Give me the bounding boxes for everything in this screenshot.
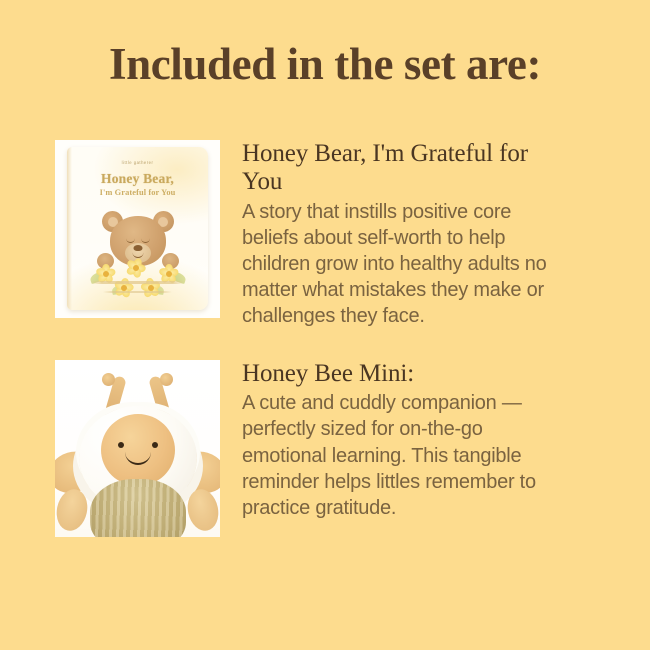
cover-tagline-rule — [91, 281, 184, 284]
book-cover-image: little gatherer Honey Bear, I'm Grateful… — [55, 140, 220, 318]
cover-byline-rule — [103, 291, 172, 293]
bee-antenna-tip-right-icon — [160, 373, 173, 386]
flower-icon — [98, 265, 115, 282]
book-card: little gatherer Honey Bear, I'm Grateful… — [67, 147, 208, 310]
bee-arm-right-icon — [184, 486, 220, 533]
cover-title-text: Honey Bear, — [67, 171, 208, 187]
flower-icon — [128, 259, 145, 276]
book-text-column: Honey Bear, I'm Grateful for You A story… — [242, 140, 562, 329]
cover-subtitle-text: I'm Grateful for You — [67, 188, 208, 197]
bee-head-icon — [101, 414, 175, 486]
plush-bee-image — [55, 360, 220, 537]
bear-eye-left-icon — [126, 238, 135, 243]
flower-icon — [161, 265, 178, 282]
plush-title: Honey Bee Mini: — [242, 360, 562, 388]
bee-eye-left-icon — [118, 442, 124, 448]
book-cover-artwork: little gatherer Honey Bear, I'm Grateful… — [55, 140, 220, 318]
promo-panel: Included in the set are: little gatherer… — [0, 0, 650, 650]
bee-smile-icon — [125, 450, 151, 465]
bee-antenna-tip-left-icon — [102, 373, 115, 386]
page-title: Included in the set are: — [0, 40, 650, 90]
set-item-plush: Honey Bee Mini: A cute and cuddly compan… — [55, 360, 562, 537]
cover-brand-text: little gatherer — [67, 160, 208, 165]
bee-illustration — [55, 360, 220, 537]
plush-text-column: Honey Bee Mini: A cute and cuddly compan… — [242, 360, 562, 521]
bee-arm-left-icon — [55, 486, 91, 533]
plush-description: A cute and cuddly companion — perfectly … — [242, 390, 562, 521]
bee-eye-right-icon — [152, 442, 158, 448]
plush-bee-artwork — [55, 360, 220, 537]
bee-body-icon — [90, 479, 186, 537]
set-item-book: little gatherer Honey Bear, I'm Grateful… — [55, 140, 562, 329]
book-description: A story that instills positive core beli… — [242, 199, 562, 330]
flower-bouquet-illustration — [86, 257, 190, 301]
book-title: Honey Bear, I'm Grateful for You — [242, 140, 562, 197]
bear-eye-right-icon — [141, 238, 150, 243]
